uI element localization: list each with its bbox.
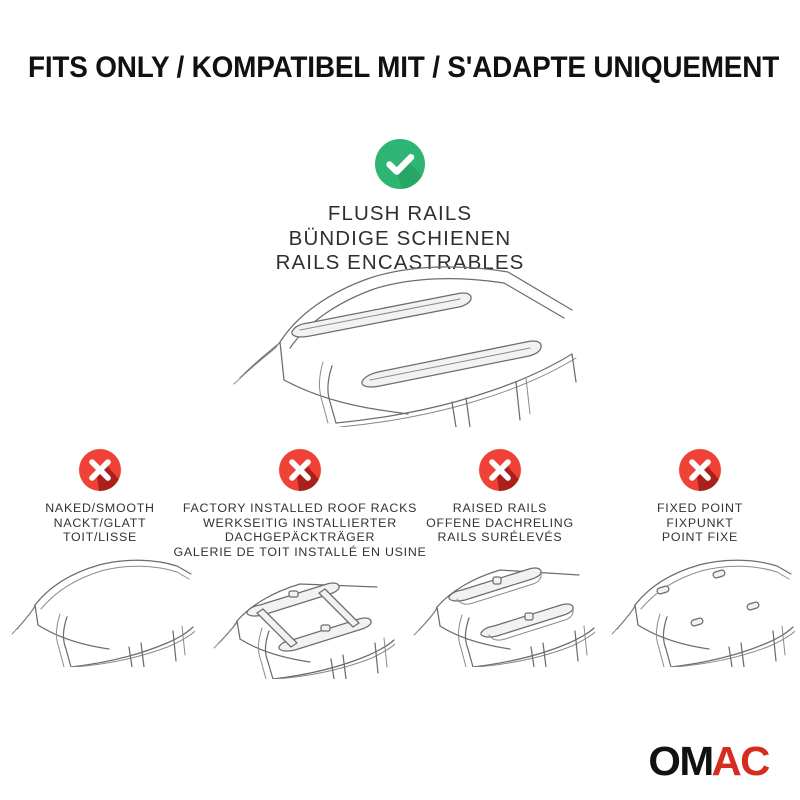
check-circle-icon: [374, 138, 426, 190]
option-label-fr: GALERIE DE TOIT INSTALLÉ EN USINE: [173, 545, 426, 560]
option-labels: RAISED RAILS OFFENE DACHRELING RAILS SUR…: [426, 501, 574, 545]
option-label-en: NAKED/SMOOTH: [45, 501, 155, 516]
option-label-de: OFFENE DACHRELING: [426, 516, 574, 531]
car-roof-raised-rails-illustration: [405, 549, 595, 667]
page-title: FITS ONLY / KOMPATIBEL MIT / S'ADAPTE UN…: [28, 52, 772, 84]
car-roof-flush-rails-illustration: [0, 262, 800, 427]
option-label-en: FIXED POINT: [657, 501, 743, 516]
option-label-en: FACTORY INSTALLED ROOF RACKS: [173, 501, 426, 516]
option-labels: FACTORY INSTALLED ROOF RACKS WERKSEITIG …: [173, 501, 426, 559]
omac-logo: OM AC: [649, 741, 768, 782]
car-roof-fixed-point-illustration: [605, 549, 795, 667]
compatible-label-de: BÜNDIGE SCHIENEN: [0, 227, 800, 252]
option-label-de: FIXPUNKT: [657, 516, 743, 531]
option-label-fr: POINT FIXE: [657, 530, 743, 545]
logo-text-ac: AC: [711, 741, 768, 782]
option-naked-smooth: NAKED/SMOOTH NACKT/GLATT TOIT/LISSE: [0, 448, 200, 667]
option-label-fr: TOIT/LISSE: [45, 530, 155, 545]
option-label-fr: RAILS SURÉLEVÉS: [426, 530, 574, 545]
cross-circle-icon: [278, 448, 322, 492]
car-roof-naked-smooth-illustration: [5, 549, 195, 667]
cross-circle-icon: [678, 448, 722, 492]
option-label-de: NACKT/GLATT: [45, 516, 155, 531]
incompatible-options-row: NAKED/SMOOTH NACKT/GLATT TOIT/LISSE: [0, 448, 800, 679]
option-label-de-2: DACHGEPÄCKTRÄGER: [173, 530, 426, 545]
option-label-en: RAISED RAILS: [426, 501, 574, 516]
option-label-de-1: WERKSEITIG INSTALLIERTER: [173, 516, 426, 531]
option-raised-rails: RAISED RAILS OFFENE DACHRELING RAILS SUR…: [400, 448, 600, 667]
option-factory-roof-racks: FACTORY INSTALLED ROOF RACKS WERKSEITIG …: [200, 448, 400, 679]
option-labels: NAKED/SMOOTH NACKT/GLATT TOIT/LISSE: [45, 501, 155, 545]
cross-circle-icon: [78, 448, 122, 492]
option-labels: FIXED POINT FIXPUNKT POINT FIXE: [657, 501, 743, 545]
car-roof-factory-racks-illustration: [205, 563, 395, 679]
compatible-label-en: FLUSH RAILS: [0, 202, 800, 227]
compatible-section: FLUSH RAILS BÜNDIGE SCHIENEN RAILS ENCAS…: [0, 138, 800, 276]
option-fixed-point: FIXED POINT FIXPUNKT POINT FIXE: [600, 448, 800, 667]
logo-text-om: OM: [648, 741, 712, 782]
cross-circle-icon: [478, 448, 522, 492]
header: FITS ONLY / KOMPATIBEL MIT / S'ADAPTE UN…: [0, 52, 800, 84]
